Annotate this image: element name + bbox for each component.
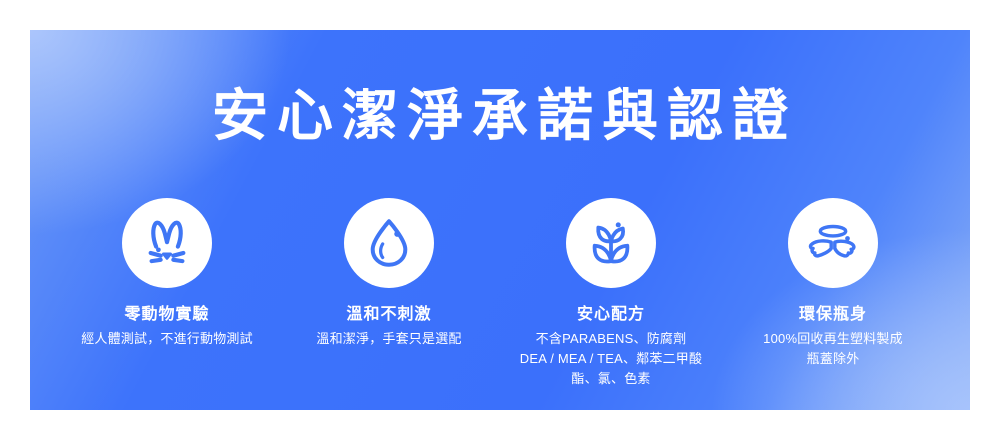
feature-item-safe-formula: 安心配方 不含PARABENS、防腐劑 DEA / MEA / TEA、鄰苯二甲…: [500, 198, 722, 389]
feature-desc-line: DEA / MEA / TEA、鄰苯二甲酸: [520, 349, 702, 369]
feature-title: 零動物實驗: [124, 305, 209, 325]
water-drop-icon: [344, 198, 434, 288]
feature-desc-line: 溫和潔淨，手套只是選配: [316, 329, 461, 349]
feature-desc-line: 100%回收再生塑料製成: [763, 329, 903, 349]
feature-list: 零動物實驗 經人體測試，不進行動物測試 溫和不刺激 溫和潔淨，手套只是選配: [30, 198, 970, 389]
feature-item-gentle-non-irritating: 溫和不刺激 溫和潔淨，手套只是選配: [278, 198, 500, 349]
plant-leaf-icon: [566, 198, 656, 288]
page-title: 安心潔淨承諾與認證: [30, 88, 970, 144]
rabbit-icon: [122, 198, 212, 288]
feature-item-eco-bottle: 環保瓶身 100%回收再生塑料製成 瓶蓋除外: [722, 198, 944, 369]
feature-title: 安心配方: [577, 305, 645, 325]
feature-title: 溫和不刺激: [346, 305, 431, 325]
screenshot-canvas: 安心潔淨承諾與認證 零動物實驗 經人體: [0, 0, 1000, 437]
angel-wings-icon: [788, 198, 878, 288]
feature-title: 環保瓶身: [799, 305, 867, 325]
feature-item-zero-animal-testing: 零動物實驗 經人體測試，不進行動物測試: [56, 198, 278, 349]
promise-certification-banner: 安心潔淨承諾與認證 零動物實驗 經人體: [30, 30, 970, 410]
feature-desc-line: 酯、氯、色素: [571, 369, 650, 389]
feature-desc-line: 不含PARABENS、防腐劑: [536, 329, 687, 349]
feature-desc-line: 經人體測試，不進行動物測試: [81, 329, 253, 349]
feature-desc-line: 瓶蓋除外: [807, 349, 860, 369]
